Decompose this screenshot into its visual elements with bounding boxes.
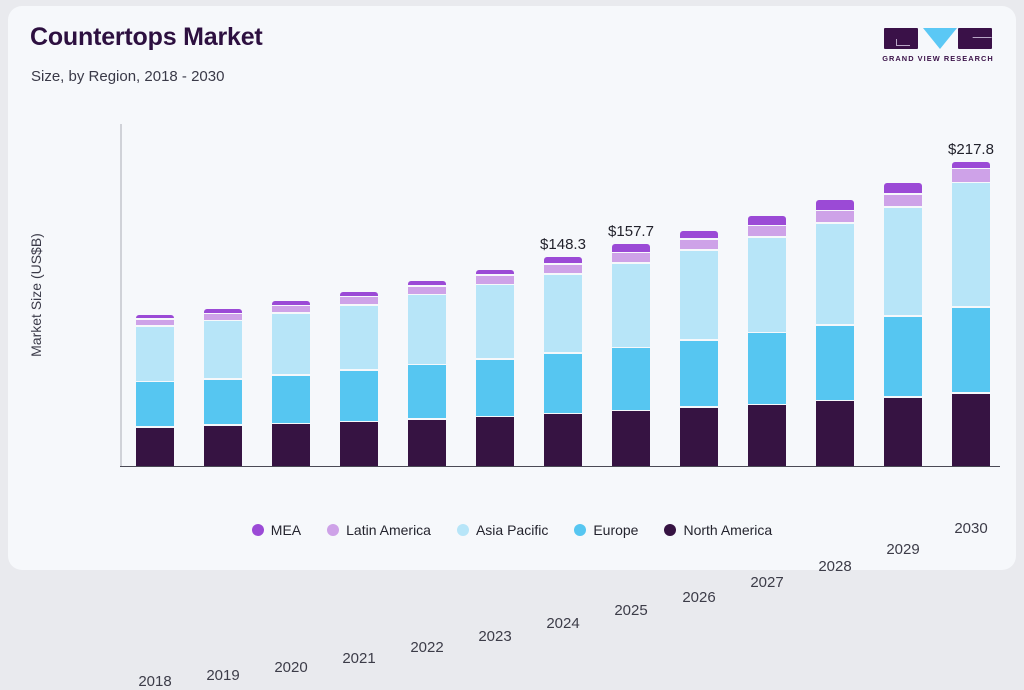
bar-segment-latin-america[interactable]	[408, 287, 446, 294]
bar-segment-mea[interactable]	[204, 309, 242, 312]
legend-swatch-icon	[457, 524, 469, 536]
bar-segment-latin-america[interactable]	[272, 306, 310, 312]
x-axis-tick-label: 2023	[478, 628, 511, 645]
bar-segment-asia-pacific[interactable]	[136, 327, 174, 381]
legend-label: North America	[683, 522, 772, 538]
bar-2023[interactable]: 2023	[476, 270, 514, 466]
bar-2030[interactable]: $217.82030	[952, 162, 990, 466]
legend-swatch-icon	[327, 524, 339, 536]
y-axis-line	[120, 124, 122, 466]
bar-segment-mea[interactable]	[408, 281, 446, 285]
legend-label: Latin America	[346, 522, 431, 538]
bar-segment-europe[interactable]	[884, 317, 922, 396]
bar-segment-europe[interactable]	[748, 333, 786, 403]
bar-segment-north-america[interactable]	[204, 426, 242, 466]
bar-segment-latin-america[interactable]	[136, 320, 174, 325]
logo-triangle-icon	[923, 28, 957, 49]
bar-2019[interactable]: 2019	[204, 309, 242, 466]
logo-mark	[878, 28, 998, 52]
bar-segment-north-america[interactable]	[136, 428, 174, 466]
x-axis-tick-label: 2028	[818, 558, 851, 575]
bar-segment-north-america[interactable]	[680, 408, 718, 466]
legend-label: Asia Pacific	[476, 522, 548, 538]
bar-2018[interactable]: 2018	[136, 315, 174, 466]
bar-segment-north-america[interactable]	[748, 405, 786, 466]
bar-2022[interactable]: 2022	[408, 281, 446, 466]
bar-segment-europe[interactable]	[612, 348, 650, 410]
legend-item-mea[interactable]: MEA	[252, 522, 301, 538]
bar-segment-north-america[interactable]	[340, 422, 378, 466]
bar-segment-asia-pacific[interactable]	[952, 183, 990, 306]
bar-segment-latin-america[interactable]	[204, 314, 242, 320]
logo-notch-left-icon	[896, 39, 910, 46]
bar-segment-europe[interactable]	[476, 360, 514, 416]
bar-segment-mea[interactable]	[544, 257, 582, 263]
bar-segment-europe[interactable]	[408, 365, 446, 418]
bar-segment-asia-pacific[interactable]	[680, 251, 718, 339]
x-axis-tick-label: 2020	[274, 659, 307, 676]
bar-2024[interactable]: $148.32024	[544, 257, 582, 466]
bar-segment-asia-pacific[interactable]	[884, 208, 922, 315]
bar-segment-asia-pacific[interactable]	[612, 264, 650, 347]
bar-segment-latin-america[interactable]	[476, 276, 514, 284]
bar-segment-north-america[interactable]	[408, 420, 446, 467]
legend-label: Europe	[593, 522, 638, 538]
bar-segment-europe[interactable]	[816, 326, 854, 400]
logo-wordmark: GRAND VIEW RESEARCH	[878, 54, 998, 63]
bar-value-label: $217.8	[948, 141, 994, 158]
legend-item-asia-pacific[interactable]: Asia Pacific	[457, 522, 548, 538]
bar-segment-asia-pacific[interactable]	[476, 285, 514, 358]
x-axis-tick-label: 2025	[614, 602, 647, 619]
bar-segment-north-america[interactable]	[612, 411, 650, 466]
bar-segment-latin-america[interactable]	[544, 265, 582, 273]
bar-2028[interactable]: 2028	[816, 200, 854, 466]
bar-value-label: $148.3	[540, 236, 586, 253]
bar-segment-north-america[interactable]	[884, 398, 922, 466]
bar-segment-asia-pacific[interactable]	[748, 238, 786, 332]
bar-segment-mea[interactable]	[136, 315, 174, 318]
x-axis-tick-label: 2019	[206, 667, 239, 684]
legend-swatch-icon	[664, 524, 676, 536]
chart-legend: MEALatin AmericaAsia PacificEuropeNorth …	[8, 522, 1016, 538]
bar-segment-mea[interactable]	[884, 183, 922, 193]
bar-segment-europe[interactable]	[136, 382, 174, 426]
bar-segment-latin-america[interactable]	[884, 195, 922, 207]
grand-view-research-logo: GRAND VIEW RESEARCH	[878, 28, 998, 66]
bar-segment-europe[interactable]	[952, 308, 990, 392]
bar-segment-north-america[interactable]	[544, 414, 582, 466]
x-axis-tick-label: 2021	[342, 650, 375, 667]
bar-value-label: $157.7	[608, 223, 654, 240]
bar-segment-latin-america[interactable]	[680, 240, 718, 250]
bar-segment-europe[interactable]	[340, 371, 378, 421]
bar-segment-asia-pacific[interactable]	[816, 224, 854, 325]
bar-segment-mea[interactable]	[748, 216, 786, 224]
bar-segment-asia-pacific[interactable]	[544, 275, 582, 352]
bar-segment-asia-pacific[interactable]	[272, 314, 310, 374]
bar-segment-north-america[interactable]	[476, 417, 514, 466]
bar-segment-asia-pacific[interactable]	[204, 321, 242, 378]
bar-segment-north-america[interactable]	[952, 394, 990, 467]
bar-segment-mea[interactable]	[612, 244, 650, 252]
bar-segment-north-america[interactable]	[272, 424, 310, 466]
chart-card: Countertops Market Size, by Region, 2018…	[8, 6, 1016, 570]
legend-swatch-icon	[252, 524, 264, 536]
stacked-bar-chart: Market Size (US$B) 050100150200250 20182…	[120, 124, 1000, 466]
bar-segment-latin-america[interactable]	[748, 226, 786, 236]
bar-2021[interactable]: 2021	[340, 292, 378, 466]
bar-segment-mea[interactable]	[340, 292, 378, 296]
bar-segment-mea[interactable]	[952, 162, 990, 168]
bar-segment-latin-america[interactable]	[952, 169, 990, 181]
x-axis-tick-label: 2018	[138, 673, 171, 690]
legend-item-north-america[interactable]: North America	[664, 522, 772, 538]
x-axis-tick-label: 2027	[750, 574, 783, 591]
x-axis-tick-label: 2029	[886, 541, 919, 558]
bar-segment-mea[interactable]	[272, 301, 310, 305]
bar-segment-europe[interactable]	[544, 354, 582, 413]
bar-segment-latin-america[interactable]	[612, 253, 650, 262]
x-axis-tick-label: 2026	[682, 589, 715, 606]
legend-label: MEA	[271, 522, 301, 538]
bar-2029[interactable]: 2029	[884, 183, 922, 466]
x-axis-tick-label: 2024	[546, 615, 579, 632]
bar-segment-mea[interactable]	[816, 200, 854, 209]
bar-segment-asia-pacific[interactable]	[340, 306, 378, 370]
bar-segment-europe[interactable]	[204, 380, 242, 424]
bar-2026[interactable]: 2026	[680, 231, 718, 467]
bar-segment-north-america[interactable]	[816, 401, 854, 466]
legend-item-europe[interactable]: Europe	[574, 522, 638, 538]
bar-segment-asia-pacific[interactable]	[408, 295, 446, 363]
bar-segment-latin-america[interactable]	[816, 211, 854, 222]
y-axis-title: Market Size (US$B)	[28, 233, 44, 357]
bar-segment-mea[interactable]	[680, 231, 718, 239]
page-title: Countertops Market	[30, 23, 263, 52]
page-subtitle: Size, by Region, 2018 - 2030	[31, 68, 224, 85]
bar-2025[interactable]: $157.72025	[612, 244, 650, 466]
legend-swatch-icon	[574, 524, 586, 536]
bar-segment-latin-america[interactable]	[340, 297, 378, 304]
bar-segment-mea[interactable]	[476, 270, 514, 274]
bar-2020[interactable]: 2020	[272, 301, 310, 466]
bar-segment-europe[interactable]	[272, 376, 310, 423]
bar-2027[interactable]: 2027	[748, 216, 786, 466]
legend-item-latin-america[interactable]: Latin America	[327, 522, 431, 538]
x-axis-tick-label: 2022	[410, 639, 443, 656]
bar-segment-europe[interactable]	[680, 341, 718, 407]
